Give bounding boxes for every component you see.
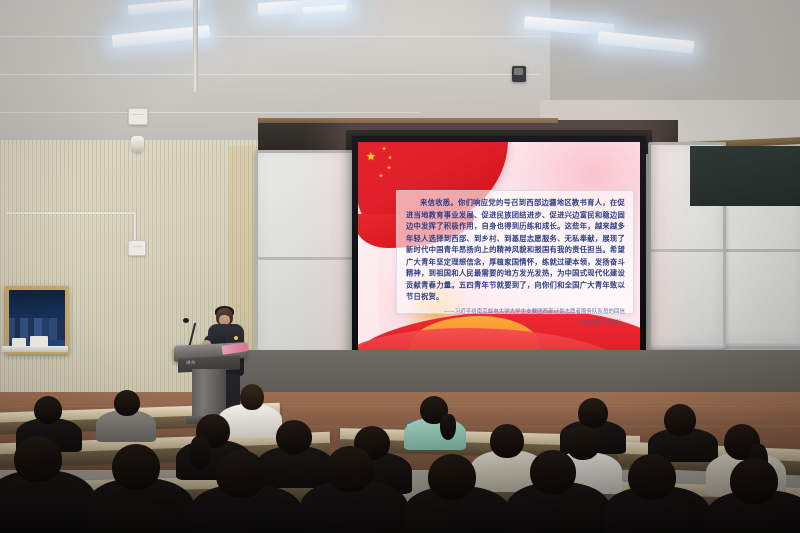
audience-head <box>276 420 312 454</box>
ceiling-conduit-horizontal <box>6 212 134 214</box>
slide-text-card: 来信收悉。你们响应党的号召到西部边疆地区教书育人，在促进当地教育事业发展、促进民… <box>396 190 634 314</box>
audience-head <box>664 404 696 436</box>
microphone-head-icon <box>183 318 189 323</box>
audience-head <box>114 390 140 416</box>
speaker-badge <box>234 336 238 340</box>
whiteboard-left <box>255 150 357 358</box>
slide-date: （2025年5月2日） <box>406 318 625 326</box>
audience-head <box>730 458 778 504</box>
wall-switch-panel[interactable] <box>128 240 146 256</box>
audience-head <box>14 436 62 482</box>
led-screen-bezel: ★ ★ ★ ★ ★ 来信收悉。你们响应党的号召到西部边疆地区教书育人，在促进当地… <box>352 136 646 360</box>
ledge-object-1 <box>12 338 26 347</box>
whiteboard-right-tray <box>721 342 800 347</box>
slide-attribution: ——习近平给南京邮电大学大学生支教团西部计划志愿者服务队队员的回信 <box>406 307 625 315</box>
flag-star-2: ★ <box>388 156 392 161</box>
flag-star-4: ★ <box>379 174 383 179</box>
wall-camera-icon <box>512 66 526 82</box>
lecture-hall-photo: ★ ★ ★ ★ ★ 来信收悉。你们响应党的号召到西部边疆地区教书育人，在促进当地… <box>0 0 800 533</box>
slide-body-text: 来信收悉。你们响应党的号召到西部边疆地区教书育人，在促进当地教育事业发展、促进民… <box>406 197 625 303</box>
audience-hair <box>440 414 456 440</box>
wall-control-box[interactable] <box>128 108 148 125</box>
audience-hair <box>190 436 210 470</box>
flag-star-large: ★ <box>366 152 376 163</box>
whiteboard-right-inner-tray <box>651 344 723 349</box>
projector-mount-pole <box>193 0 198 92</box>
audience-head <box>216 450 266 498</box>
audience-head <box>530 450 576 494</box>
chalkboard-strip <box>690 146 800 206</box>
flag-star-1: ★ <box>382 147 386 152</box>
audience-head <box>566 426 600 460</box>
audience-head <box>240 384 264 410</box>
flag-star-3: ★ <box>387 166 391 171</box>
audience-head <box>578 398 608 428</box>
ledge-object-2 <box>30 336 48 347</box>
audience-head <box>428 454 476 500</box>
audience-head <box>112 444 160 490</box>
audience-head <box>628 454 676 500</box>
audience-head <box>490 424 524 458</box>
wood-trim-upper <box>258 118 558 123</box>
podium-brand-label: 讲台 <box>186 360 196 367</box>
dome-camera-icon <box>131 136 144 153</box>
ceiling-conduit-vertical <box>134 212 136 240</box>
presentation-slide[interactable]: ★ ★ ★ ★ ★ 来信收悉。你们响应党的号召到西部边疆地区教书育人，在促进当地… <box>358 142 640 354</box>
audience-head <box>34 396 62 424</box>
audience-head <box>326 446 374 492</box>
